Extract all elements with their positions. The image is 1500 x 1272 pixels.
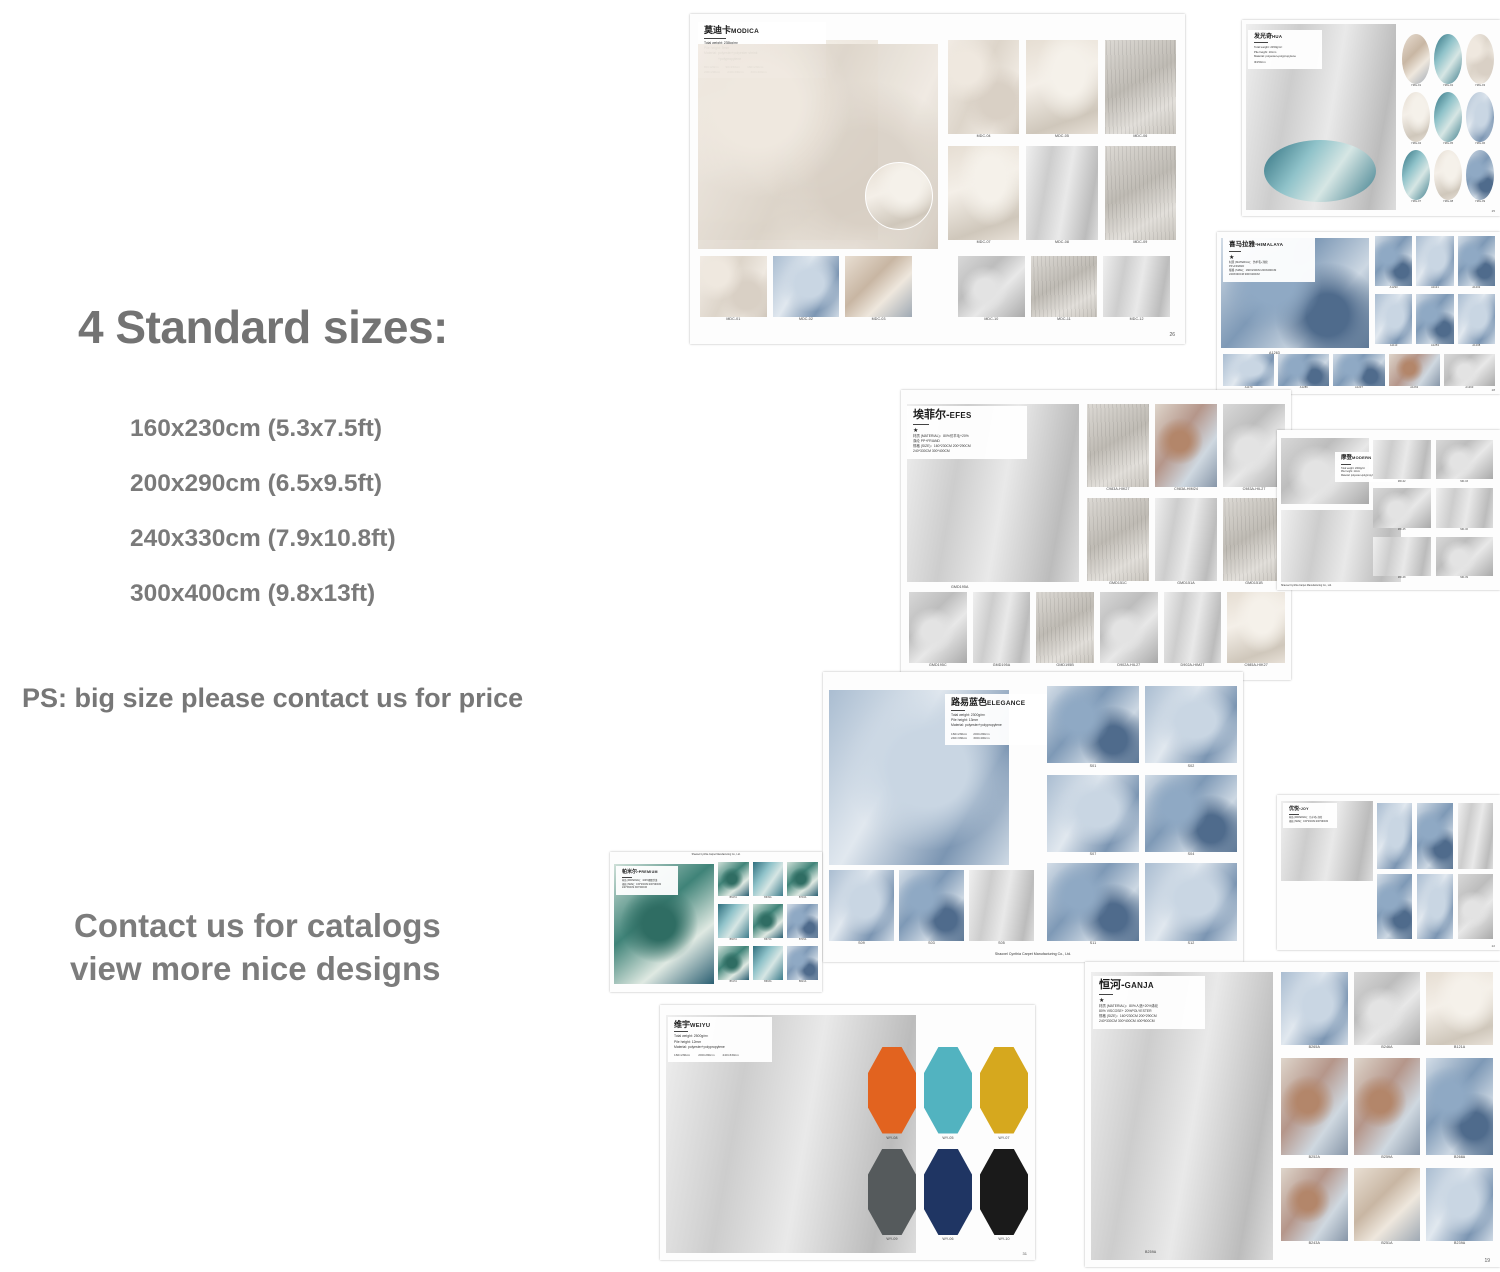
weiyu-info-card: 维宇WEIYU Total weight: 2500g/m² Pile heig… [668, 1017, 772, 1062]
swatch-cell: MDC-05 [1026, 40, 1097, 139]
swatch-cell: D902A-HIM27 [1164, 592, 1222, 668]
swatch-cell: B259A [1354, 1058, 1421, 1160]
swatch-cell: B703A [787, 862, 818, 900]
color-swatch-cell: WY-06 [924, 1149, 972, 1243]
swatch-cell: C983A-HIL27 [1223, 404, 1285, 492]
catalog-page-modica: 莫迪卡MODICA Total weight: 235kg/m² Pile he… [690, 14, 1185, 344]
swatch-cell: A1113 [1375, 294, 1412, 348]
swatch-cell: MD-02 [1373, 440, 1431, 483]
swatch-cell: MD-06 [1436, 488, 1494, 531]
weiyu-spec-3: Material: polyester+polypropylene [674, 1045, 766, 1050]
elegance-swatch-grid-left: S09 S03 S05 [829, 870, 1034, 946]
joy-swatch-grid [1377, 803, 1493, 939]
elegance-size-4: 300×400cm [973, 736, 989, 741]
swatch-cell [1377, 874, 1412, 940]
elegance-swatch-grid-right: S01 S02 S07 S04 S11 S12 [1047, 686, 1237, 946]
size-option-3: 240x330cm (7.9x10.8ft) [130, 525, 600, 553]
swatch-cell: MD-09 [1436, 537, 1494, 580]
contact-line-2: view more nice designs [70, 950, 440, 988]
page-title: 4 Standard sizes: [78, 300, 448, 354]
left-text-panel: 4 Standard sizes: 160x230cm (5.3x7.5ft) … [0, 0, 620, 1272]
swatch-cell: YMG-07 [1402, 150, 1430, 204]
elegance-info-card: 路易蓝色ELEGANCE Total weight: 2300g/m² Pile… [945, 694, 1053, 745]
swatch-cell: MD-08 [1373, 537, 1431, 580]
efes-spec-4: 240*330CM 300*400CM [913, 449, 1021, 454]
catalog-page-ganja: 恒河-GANJA ★ 材质 (MATERIAL)：80%人造+20%涤纶 80%… [1085, 962, 1500, 1267]
yueguang-title: 发光奇HUA [1254, 34, 1316, 40]
himalaya-spec-4: 240X330CM 300X400CM [1229, 273, 1309, 277]
catalog-page-himalaya: 喜马拉雅-HIMALAYA ★ 材质 (MATERIAL)：仿羊毛+涤纶 PP+… [1217, 232, 1500, 394]
modica-swatch-grid-bottom-left: MDC-01 MDC-02 MDC-03 [700, 256, 912, 322]
swatch-cell: S11 [1047, 863, 1139, 946]
ganja-swatch-grid-row2: B252A B259A B268A [1281, 1058, 1493, 1160]
swatch-cell: B627A [718, 862, 749, 900]
elegance-title: 路易蓝色ELEGANCE [951, 698, 1047, 708]
swatch-cell: A1202 [1458, 236, 1495, 290]
premium-spec-3: 240*330CM 300*400CM [622, 887, 672, 891]
swatch-cell: S07 [1047, 775, 1139, 858]
joy-title: 优悦-JOY [1289, 807, 1331, 812]
swatch-cell: B265A [1281, 972, 1348, 1050]
swatch-cell: S01 [1047, 686, 1139, 769]
swatch-cell: GMD195B [1036, 592, 1094, 668]
swatch-cell: B617A [718, 946, 749, 984]
swatch-cell: YMG-08 [1434, 150, 1462, 204]
swatch-cell: B607A [718, 904, 749, 942]
swatch-cell: YMG-06 [1466, 92, 1494, 146]
swatch-cell: S05 [969, 870, 1034, 946]
swatch-cell: S04 [1145, 775, 1237, 858]
color-swatch-cell: WY-07 [980, 1047, 1028, 1141]
color-swatch-cell: WY-10 [980, 1149, 1028, 1243]
weiyu-size-1: 160×230cm [674, 1053, 690, 1058]
swatch-cell: B252A [1281, 1058, 1348, 1160]
swatch-cell: GMD151C [1087, 498, 1149, 586]
modica-swatch-grid-top: MDC-04 MDC-05 MDC-06 MDC-07 MDC-08 MDC-0… [948, 40, 1176, 245]
swatch-cell: C983A-HIK27 [1087, 404, 1149, 492]
swatch-cell: MDC-04 [948, 40, 1019, 139]
swatch-cell: YMG-01 [1402, 34, 1430, 88]
yueguang-spec-3: Material: polyester+polypropylene [1254, 54, 1316, 58]
swatch-cell [1458, 874, 1493, 940]
swatch-cell: D902A-HIL27 [1100, 592, 1158, 668]
swatch-cell: MDC-10 [958, 256, 1025, 322]
yueguang-size-1: Φ150cm [1254, 60, 1316, 65]
swatch-cell: A1208 [1458, 294, 1495, 348]
swatch-cell: YMG-03 [1466, 34, 1494, 88]
ganja-spec-4: 240*330CM 300*400CM 400*500CM [1099, 1019, 1199, 1024]
modern-swatch-grid: MD-02 MD-03 MD-05 MD-06 MD-08 MD-09 [1373, 440, 1493, 580]
yueguang-round-swatch-grid: YMG-01 YMG-02 YMG-03 YMG-04 YMG-05 YMG-0… [1402, 34, 1494, 204]
swatch-cell: MDC-07 [948, 146, 1019, 245]
swatch-cell [1458, 803, 1493, 869]
swatch-cell: B121A [1426, 972, 1493, 1050]
elegance-footer: Shaoxel Cynthia Carpet Manufacturing Co.… [823, 952, 1243, 956]
swatch-cell: A1121 [1416, 236, 1453, 290]
swatch-cell: GMD151A [1155, 498, 1217, 586]
modica-title: 莫迪卡MODICA [704, 26, 820, 36]
swatch-cell: A1253 [1416, 294, 1453, 348]
weiyu-color-swatch-grid: WY-08 WY-05 WY-07 WY-09 WY-06 WY-10 [868, 1047, 1028, 1242]
swatch-cell: B243A [1281, 1168, 1348, 1246]
catalog-page-premium: 帕米尔-PREMIUM 材质 (MATERIAL)：100%聚酯纤维 规格 (S… [610, 852, 822, 992]
ganja-info-card: 恒河-GANJA ★ 材质 (MATERIAL)：80%人造+20%涤纶 80%… [1093, 976, 1205, 1029]
swatch-cell: B251A [1354, 1168, 1421, 1246]
swatch-cell: A1179 [1223, 354, 1274, 390]
yueguang-info-card: 发光奇HUA Total weight: 2150g/m² Pile heigh… [1248, 30, 1322, 69]
price-note: PS: big size please contact us for price [22, 683, 523, 714]
ganja-swatch-grid-row3: B243A B251A B239A [1281, 1168, 1493, 1246]
efes-swatch-grid-row1: C983A-HIK27 C983A-HIM24 C983A-HIL27 [1087, 404, 1285, 492]
swatch-cell: GMD195C [909, 592, 967, 668]
swatch-cell: B672A [753, 904, 784, 942]
ganja-title: 恒河-GANJA [1099, 980, 1199, 992]
himalaya-page-number: 28 [1492, 388, 1495, 392]
swatch-cell [1417, 803, 1452, 869]
swatch-cell: S09 [829, 870, 894, 946]
premium-title: 帕米尔-PREMIUM [622, 870, 672, 875]
swatch-cell: YMG-02 [1434, 34, 1462, 88]
ganja-page-number: 19 [1484, 1258, 1490, 1264]
premium-swatch-grid: B627A B639A B703A B607A B672A B715A B617… [718, 862, 818, 984]
swatch-cell: MD-03 [1436, 440, 1494, 483]
swatch-cell: GMD195A [973, 592, 1031, 668]
swatch-cell: S12 [1145, 863, 1237, 946]
catalog-page-elegance: 路易蓝色ELEGANCE Total weight: 2300g/m² Pile… [823, 672, 1243, 962]
swatch-cell: S02 [1145, 686, 1237, 769]
himalaya-info-card: 喜马拉雅-HIMALAYA ★ 材质 (MATERIAL)：仿羊毛+涤纶 PP+… [1223, 238, 1315, 282]
himalaya-swatch-grid-bottom: A1179 A1286 A1237 A1263 A1293 [1223, 354, 1495, 390]
modica-swatch-grid-bottom-right: MDC-10 MDC-11 MDC-12 [958, 256, 1170, 322]
swatch-cell: B715A [787, 904, 818, 942]
swatch-cell: A1263 [1389, 354, 1440, 390]
swatch-cell: A1237 [1333, 354, 1384, 390]
swatch-cell: GMD151B [1223, 498, 1285, 586]
swatch-cell: B639A [753, 862, 784, 900]
swatch-cell [1377, 803, 1412, 869]
swatch-cell: C985A-HIK27 [1227, 592, 1285, 668]
swatch-cell: B268A [1426, 1058, 1493, 1160]
ganja-code-main: B259A [1145, 1251, 1156, 1255]
swatch-cell: YMG-05 [1434, 92, 1462, 146]
swatch-cell: MD-05 [1373, 488, 1431, 531]
swatch-cell: B246A [1354, 972, 1421, 1050]
efes-code-main: GMD195A [951, 586, 968, 590]
premium-info-card: 帕米尔-PREMIUM 材质 (MATERIAL)：100%聚酯纤维 规格 (S… [616, 866, 678, 895]
swatch-cell [1417, 874, 1452, 940]
ganja-swatch-grid-row1: B265A B246A B121A [1281, 972, 1493, 1050]
swatch-cell: YMG-09 [1466, 150, 1494, 204]
efes-title: 埃菲尔-EFES [913, 410, 1021, 422]
weiyu-page-number: 31 [1023, 1251, 1027, 1256]
catalog-collage-image: 4 Standard sizes: 160x230cm (5.3x7.5ft) … [0, 0, 1500, 1272]
color-swatch-cell: WY-05 [924, 1047, 972, 1141]
efes-swatch-grid-row2: GMD151C GMD151A GMD151B [1087, 498, 1285, 586]
swatch-cell: MDC-02 [773, 256, 840, 322]
modern-footer: Shaoxel Cynthia Carpet Manufacturing Co.… [1281, 584, 1332, 587]
weiyu-title: 维宇WEIYU [674, 1021, 766, 1029]
himalaya-title: 喜马拉雅-HIMALAYA [1229, 242, 1309, 249]
size-option-1: 160x230cm (5.3x7.5ft) [130, 415, 600, 443]
standard-size-list: 160x230cm (5.3x7.5ft) 200x290cm (6.5x9.5… [130, 415, 600, 635]
swatch-cell: MDC-11 [1031, 256, 1098, 322]
swatch-cell: S03 [899, 870, 964, 946]
swatch-cell: B239A [1426, 1168, 1493, 1246]
modica-page-number: 26 [1169, 332, 1175, 338]
joy-spec-2: 规格 (SIZE)：160*230CM 200*290CM [1289, 821, 1331, 825]
catalog-page-joy: 优悦-JOY 材质 (MATERIAL)：仿羊毛+涤纶 规格 (SIZE)：16… [1277, 795, 1500, 950]
swatch-cell: MDC-03 [845, 256, 912, 322]
weiyu-size-2: 200×290cm [698, 1053, 714, 1058]
swatch-cell: A1293 [1444, 354, 1495, 390]
size-option-4: 300x400cm (9.8x13ft) [130, 580, 600, 608]
catalog-page-modern: 摩登MODERN Total weight: 2300g/m² Pile hei… [1277, 430, 1500, 590]
swatch-cell: MDC-09 [1105, 146, 1176, 245]
swatch-cell: A1286 [1278, 354, 1329, 390]
size-option-2: 200x290cm (6.5x9.5ft) [130, 470, 600, 498]
himalaya-swatch-grid-right: A1293 A1121 A1202 A1113 A1253 A1208 [1375, 236, 1495, 348]
joy-page-number: 22 [1492, 944, 1495, 948]
elegance-spec-3: Material: polyester+polypropylene [951, 723, 1047, 728]
catalog-page-weiyu: 维宇WEIYU Total weight: 2500g/m² Pile heig… [660, 1005, 1035, 1260]
joy-info-card: 优悦-JOY 材质 (MATERIAL)：仿羊毛+涤纶 规格 (SIZE)：16… [1283, 803, 1337, 828]
catalog-page-efes: 埃菲尔-EFES ★ 材质 (MATERIAL)：80%仿羊毛+20% 涤纶 P… [901, 390, 1291, 680]
swatch-cell: MDC-08 [1026, 146, 1097, 245]
efes-swatch-grid-row3: GMD195C GMD195A GMD195B D902A-HIL27 D902… [909, 592, 1285, 668]
color-swatch-cell: WY-08 [868, 1047, 916, 1141]
swatch-cell: MDC-06 [1105, 40, 1176, 139]
elegance-size-3: 240×330cm [951, 736, 967, 741]
weiyu-size-3: 240×330cm [723, 1053, 739, 1058]
color-swatch-cell: WY-09 [868, 1149, 916, 1243]
efes-info-card: 埃菲尔-EFES ★ 材质 (MATERIAL)：80%仿羊毛+20% 涤纶 P… [907, 406, 1027, 459]
swatch-cell: MDC-01 [700, 256, 767, 322]
swatch-cell: C983A-HIM24 [1155, 404, 1217, 492]
premium-footer: Shaoxel Cynthia Carpet Manufacturing Co.… [610, 854, 822, 856]
swatch-cell: B621A [787, 946, 818, 984]
swatch-cell: B693A [753, 946, 784, 984]
catalog-page-yueguang: 发光奇HUA Total weight: 2150g/m² Pile heigh… [1242, 20, 1500, 216]
yueguang-page-number: 25 [1492, 209, 1495, 213]
swatch-cell: YMG-04 [1402, 92, 1430, 146]
swatch-cell: MDC-12 [1103, 256, 1170, 322]
catalog-pages-collage: 莫迪卡MODICA Total weight: 235kg/m² Pile he… [605, 0, 1500, 1272]
swatch-cell: A1293 [1375, 236, 1412, 290]
contact-line-1: Contact us for catalogs [74, 907, 441, 945]
